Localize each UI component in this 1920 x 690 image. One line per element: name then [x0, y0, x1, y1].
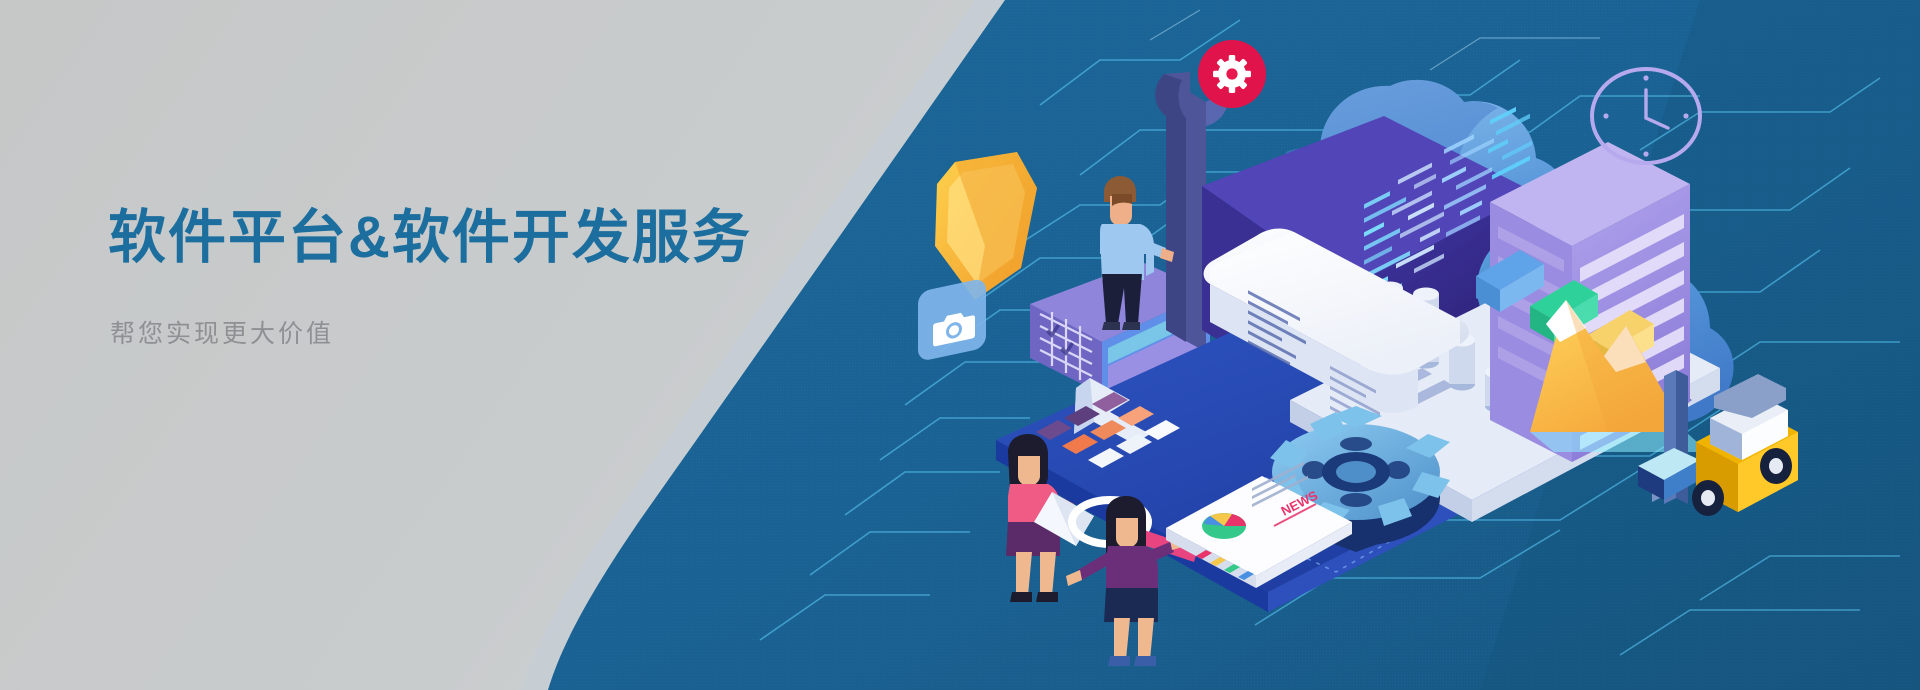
- clock-icon: [1592, 69, 1700, 163]
- gear-badge-icon: [1198, 40, 1266, 108]
- camera-icon: [918, 278, 986, 362]
- illustration: NEWS: [870, 0, 1920, 690]
- page-title: 软件平台&软件开发服务: [108, 205, 868, 272]
- shield-icon: [935, 152, 1037, 300]
- hero-banner: 软件平台&软件开发服务 帮您实现更大价值: [0, 0, 1920, 690]
- banner-copy: 软件平台&软件开发服务 帮您实现更大价值: [108, 205, 868, 350]
- page-subtitle: 帮您实现更大价值: [110, 314, 868, 350]
- pie-chart-icon: [1202, 513, 1246, 539]
